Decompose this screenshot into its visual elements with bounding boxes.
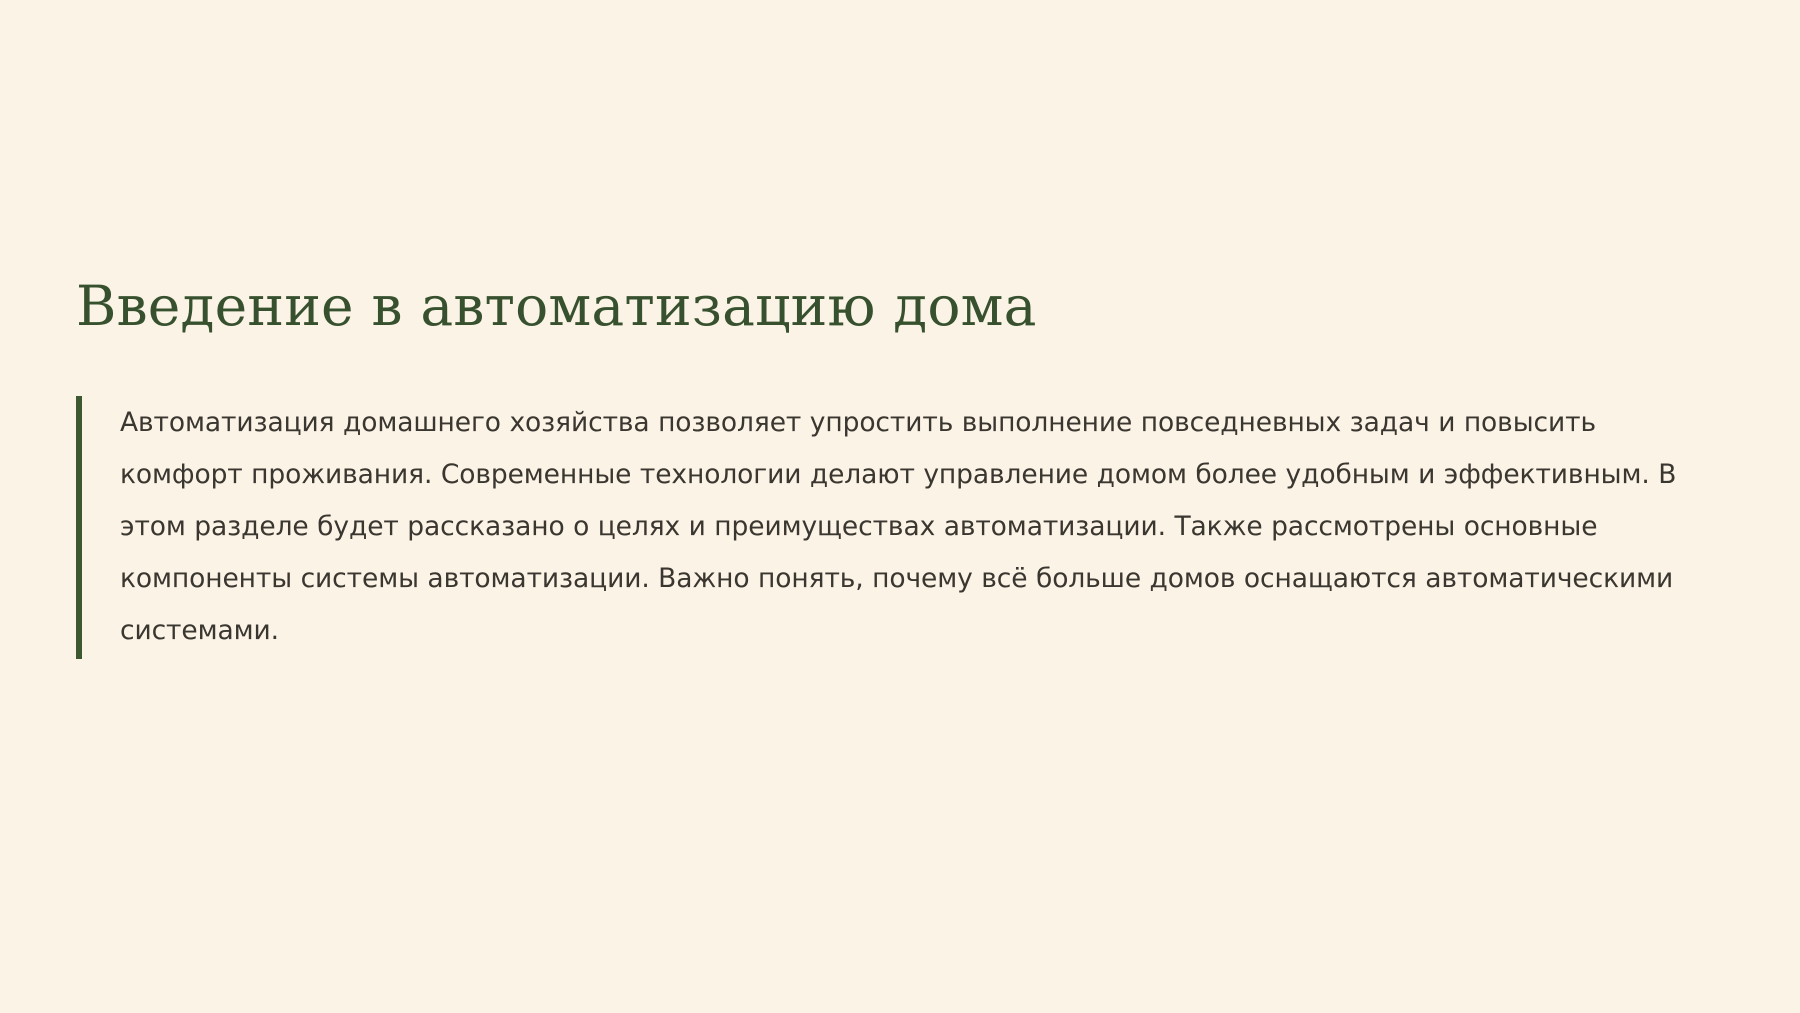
callout-body: Автоматизация домашнего хозяйства позвол… — [82, 396, 1722, 659]
page-title: Введение в автоматизацию дома — [76, 276, 1722, 338]
section-content: Введение в автоматизацию дома Автоматиза… — [76, 276, 1722, 659]
document-page: Введение в автоматизацию дома Автоматиза… — [0, 0, 1800, 1013]
callout-paragraph: Автоматизация домашнего хозяйства позвол… — [120, 397, 1722, 657]
callout-block: Автоматизация домашнего хозяйства позвол… — [76, 396, 1722, 659]
